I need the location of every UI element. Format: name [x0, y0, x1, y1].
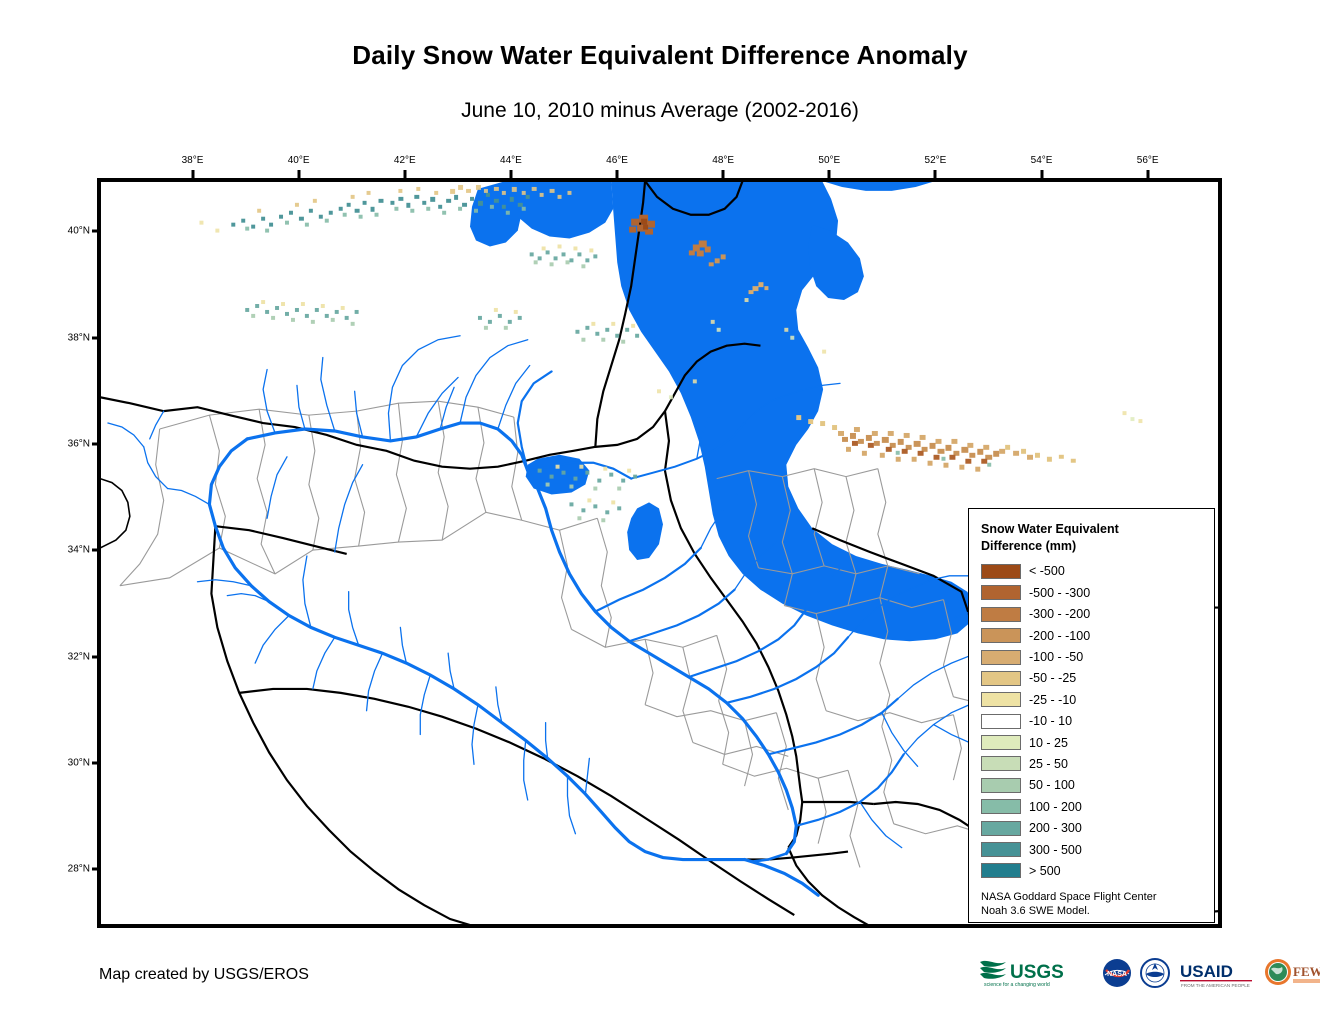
legend-label: 10 - 25 [1029, 736, 1068, 750]
lon-tick-label: 46°E [606, 155, 628, 166]
svg-text:FROM THE AMERICAN PEOPLE: FROM THE AMERICAN PEOPLE [1181, 983, 1250, 988]
lon-tick-mark [191, 170, 194, 179]
legend-row: 300 - 500 [981, 839, 1204, 860]
legend-label: 100 - 200 [1029, 800, 1082, 814]
legend-title: Snow Water Equivalent Difference (mm) [981, 521, 1204, 555]
svg-text:science for a changing world: science for a changing world [984, 982, 1050, 988]
lon-tick-mark [1146, 170, 1149, 179]
legend-row: 200 - 300 [981, 817, 1204, 838]
lon-tick-label: 38°E [182, 155, 204, 166]
lat-tick-label: 36°N [52, 438, 90, 449]
legend-label: -300 - -200 [1029, 607, 1090, 621]
lat-tick-mark [92, 230, 101, 233]
lon-tick-mark [403, 170, 406, 179]
legend-swatch [981, 692, 1021, 707]
legend-row: -200 - -100 [981, 625, 1204, 646]
lat-tick-label: 38°N [52, 332, 90, 343]
lon-tick-mark [509, 170, 512, 179]
legend-swatch [981, 564, 1021, 579]
legend-row: -50 - -25 [981, 668, 1204, 689]
legend-label: -10 - 10 [1029, 714, 1072, 728]
lat-tick-mark [92, 762, 101, 765]
lon-tick-mark [828, 170, 831, 179]
legend-swatch [981, 671, 1021, 686]
lat-tick-label: 28°N [52, 864, 90, 875]
usaid-logo[interactable]: USAID FROM THE AMERICAN PEOPLE [1178, 957, 1256, 989]
lon-tick-mark [616, 170, 619, 179]
legend-row: -100 - -50 [981, 646, 1204, 667]
map-legend[interactable]: Snow Water Equivalent Difference (mm) < … [968, 508, 1215, 923]
legend-label: 300 - 500 [1029, 843, 1082, 857]
logo-strip: USGS science for a changing world NASA U… [978, 955, 1320, 991]
legend-swatch [981, 585, 1021, 600]
lat-tick-mark [92, 442, 101, 445]
legend-row: -300 - -200 [981, 604, 1204, 625]
legend-swatch [981, 714, 1021, 729]
legend-row: > 500 [981, 860, 1204, 881]
lon-tick-label: 44°E [500, 155, 522, 166]
lon-tick-label: 52°E [925, 155, 947, 166]
legend-swatch [981, 628, 1021, 643]
nasa-logo[interactable]: NASA [1102, 958, 1132, 988]
legend-row: 50 - 100 [981, 775, 1204, 796]
legend-swatch [981, 756, 1021, 771]
lon-tick-label: 40°E [288, 155, 310, 166]
legend-label: -25 - -10 [1029, 693, 1076, 707]
legend-label: -500 - -300 [1029, 586, 1090, 600]
legend-label: 25 - 50 [1029, 757, 1068, 771]
map-credit: Map created by USGS/EROS [99, 966, 309, 984]
page-title: Daily Snow Water Equivalent Difference A… [0, 40, 1320, 71]
lon-tick-mark [1040, 170, 1043, 179]
legend-label: -100 - -50 [1029, 650, 1083, 664]
legend-label: -200 - -100 [1029, 629, 1090, 643]
lat-tick-mark [92, 655, 101, 658]
lon-tick-mark [934, 170, 937, 179]
lat-tick-label: 30°N [52, 758, 90, 769]
title-block: Daily Snow Water Equivalent Difference A… [0, 0, 1320, 123]
legend-row: 10 - 25 [981, 732, 1204, 753]
legend-swatch [981, 842, 1021, 857]
legend-swatch [981, 650, 1021, 665]
legend-row: < -500 [981, 561, 1204, 582]
legend-label: > 500 [1029, 864, 1061, 878]
usgs-logo[interactable]: USGS science for a changing world [978, 956, 1094, 990]
legend-swatch [981, 821, 1021, 836]
legend-row: -500 - -300 [981, 582, 1204, 603]
legend-row: 25 - 50 [981, 753, 1204, 774]
legend-label: 50 - 100 [1029, 778, 1075, 792]
lat-tick-mark [92, 336, 101, 339]
lat-tick-label: 32°N [52, 651, 90, 662]
legend-label: < -500 [1029, 564, 1065, 578]
svg-text:NASA: NASA [1107, 971, 1127, 978]
page-subtitle: June 10, 2010 minus Average (2002-2016) [0, 99, 1320, 123]
lon-tick-mark [722, 170, 725, 179]
lat-tick-label: 40°N [52, 226, 90, 237]
lon-tick-label: 42°E [394, 155, 416, 166]
legend-items: < -500-500 - -300-300 - -200-200 - -100-… [981, 561, 1204, 882]
lon-tick-label: 54°E [1031, 155, 1053, 166]
legend-row: -10 - 10 [981, 710, 1204, 731]
legend-label: -50 - -25 [1029, 671, 1076, 685]
legend-row: -25 - -10 [981, 689, 1204, 710]
lon-tick-mark [297, 170, 300, 179]
legend-row: 100 - 200 [981, 796, 1204, 817]
lat-tick-mark [92, 549, 101, 552]
legend-swatch [981, 607, 1021, 622]
legend-swatch [981, 778, 1021, 793]
legend-swatch [981, 863, 1021, 878]
lat-tick-label: 34°N [52, 545, 90, 556]
legend-swatch [981, 735, 1021, 750]
legend-label: 200 - 300 [1029, 821, 1082, 835]
svg-text:FEWS N: FEWS N [1293, 964, 1320, 979]
lon-tick-label: 50°E [818, 155, 840, 166]
noaa-logo[interactable] [1140, 958, 1170, 988]
svg-text:USAID: USAID [1180, 962, 1233, 981]
svg-text:USGS: USGS [1010, 962, 1064, 983]
fewsnet-logo[interactable]: FEWS N [1264, 957, 1320, 989]
lon-tick-label: 48°E [712, 155, 734, 166]
lat-tick-mark [92, 868, 101, 871]
legend-source-text: NASA Goddard Space Flight Center Noah 3.… [981, 890, 1204, 920]
lon-tick-label: 56°E [1137, 155, 1159, 166]
legend-swatch [981, 799, 1021, 814]
